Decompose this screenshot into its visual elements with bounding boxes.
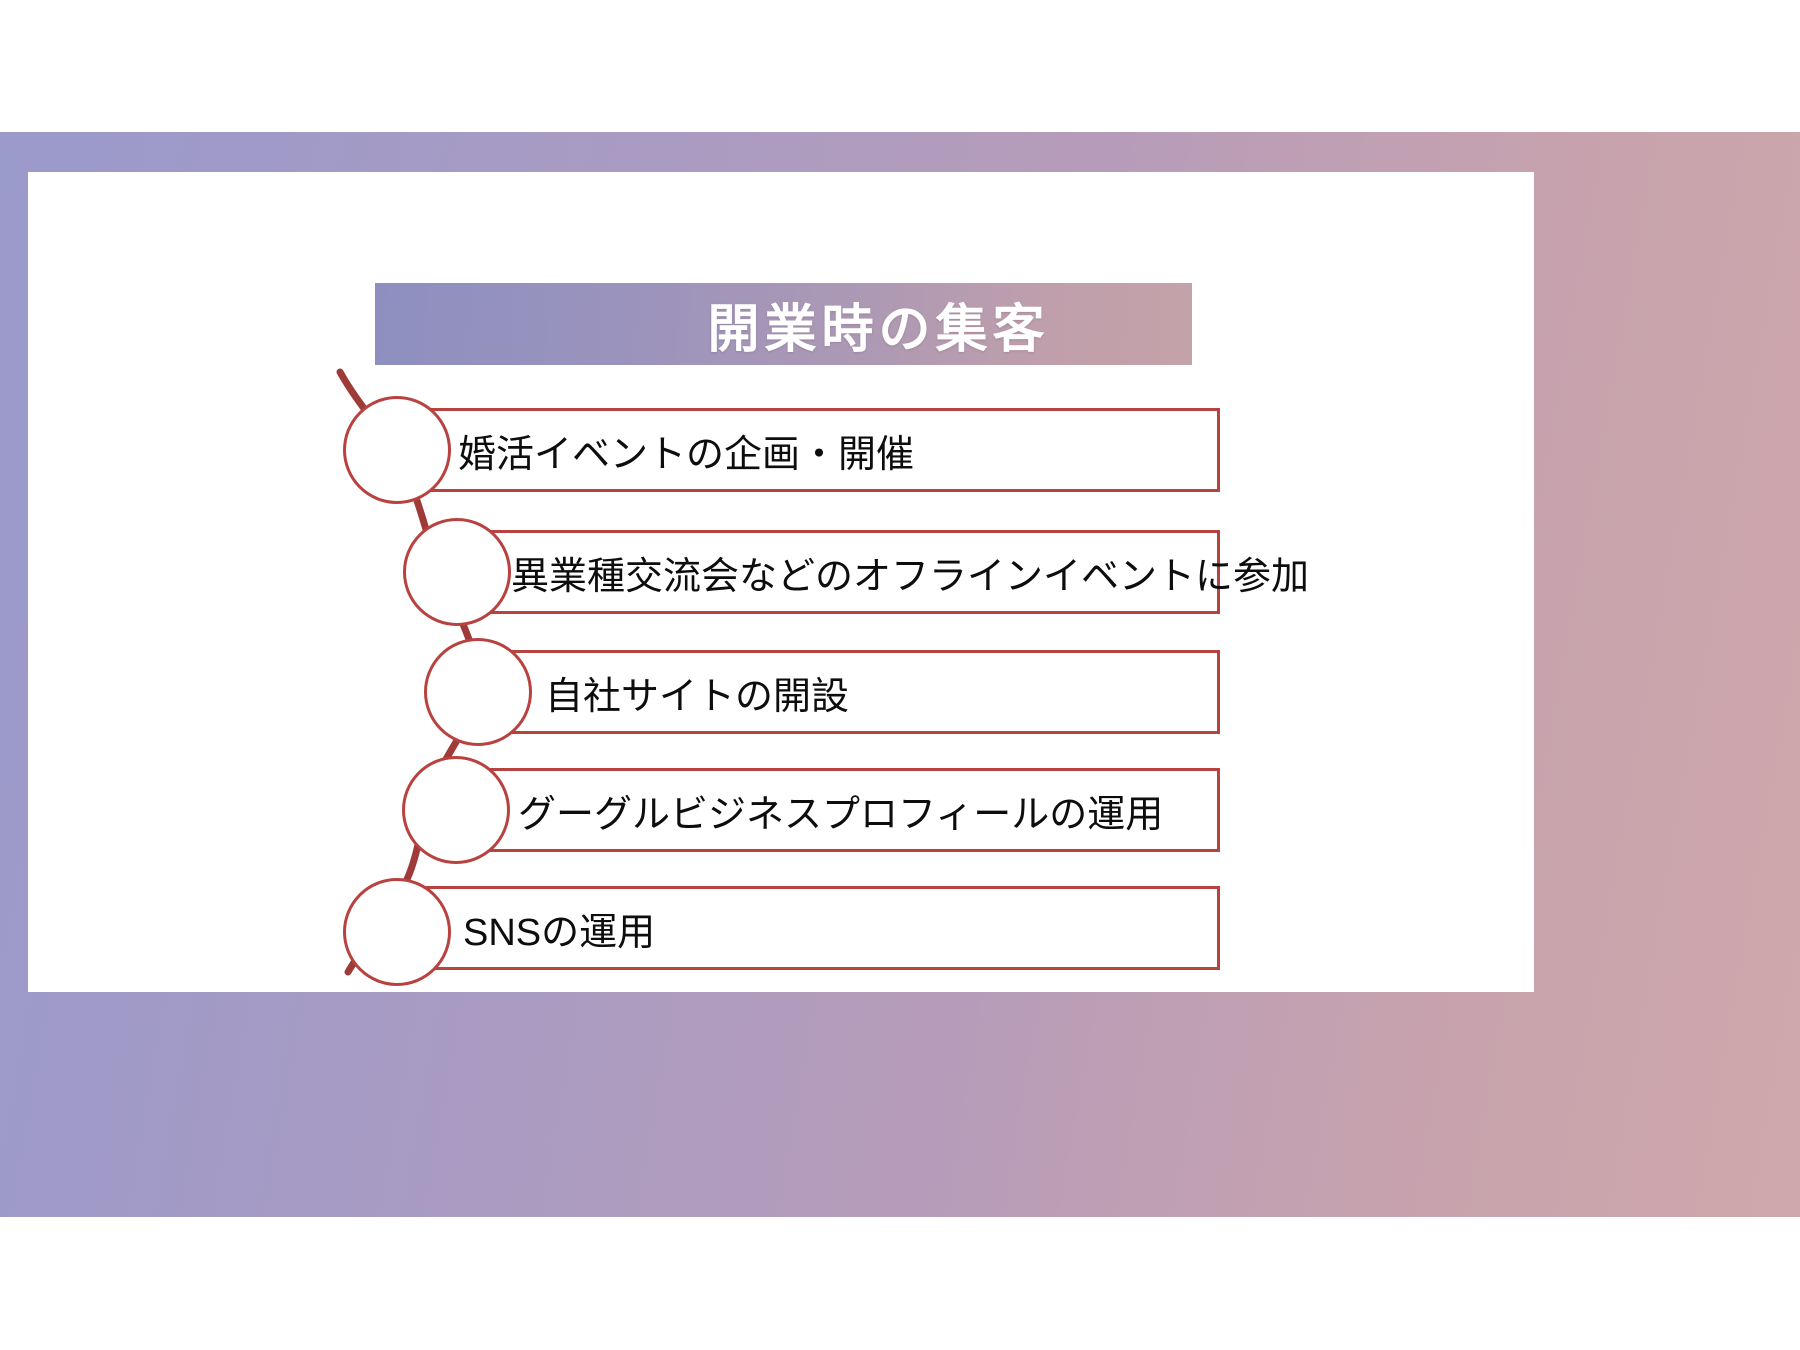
list-item-label: 異業種交流会などのオフラインイベントに参加 [511,530,1309,614]
list-item[interactable]: グーグルビジネスプロフィールの運用 [470,768,1220,852]
page-title: 開業時の集客 [375,283,1192,365]
list-item-label: SNSの運用 [463,886,655,970]
row-bullet-circle [343,878,451,986]
list-item-label: 自社サイトの開設 [545,650,849,734]
list-item[interactable]: 自社サイトの開設 [490,650,1220,734]
row-bullet-circle [402,756,510,864]
row-bullet-circle [343,396,451,504]
row-bullet-circle [424,638,532,746]
row-bullet-circle [403,518,511,626]
list-item-label: 婚活イベントの企画・開催 [458,408,914,492]
title-band: 開業時の集客 [375,283,1192,365]
list-item[interactable]: 異業種交流会などのオフラインイベントに参加 [465,530,1220,614]
slide-canvas: 開業時の集客 婚活イベントの企画・開催 異業種交流会などのオフラインイベントに参… [0,0,1800,1350]
list-item-label: グーグルビジネスプロフィールの運用 [518,768,1163,852]
list-item[interactable]: SNSの運用 [415,886,1220,970]
list-item[interactable]: 婚活イベントの企画・開催 [410,408,1220,492]
